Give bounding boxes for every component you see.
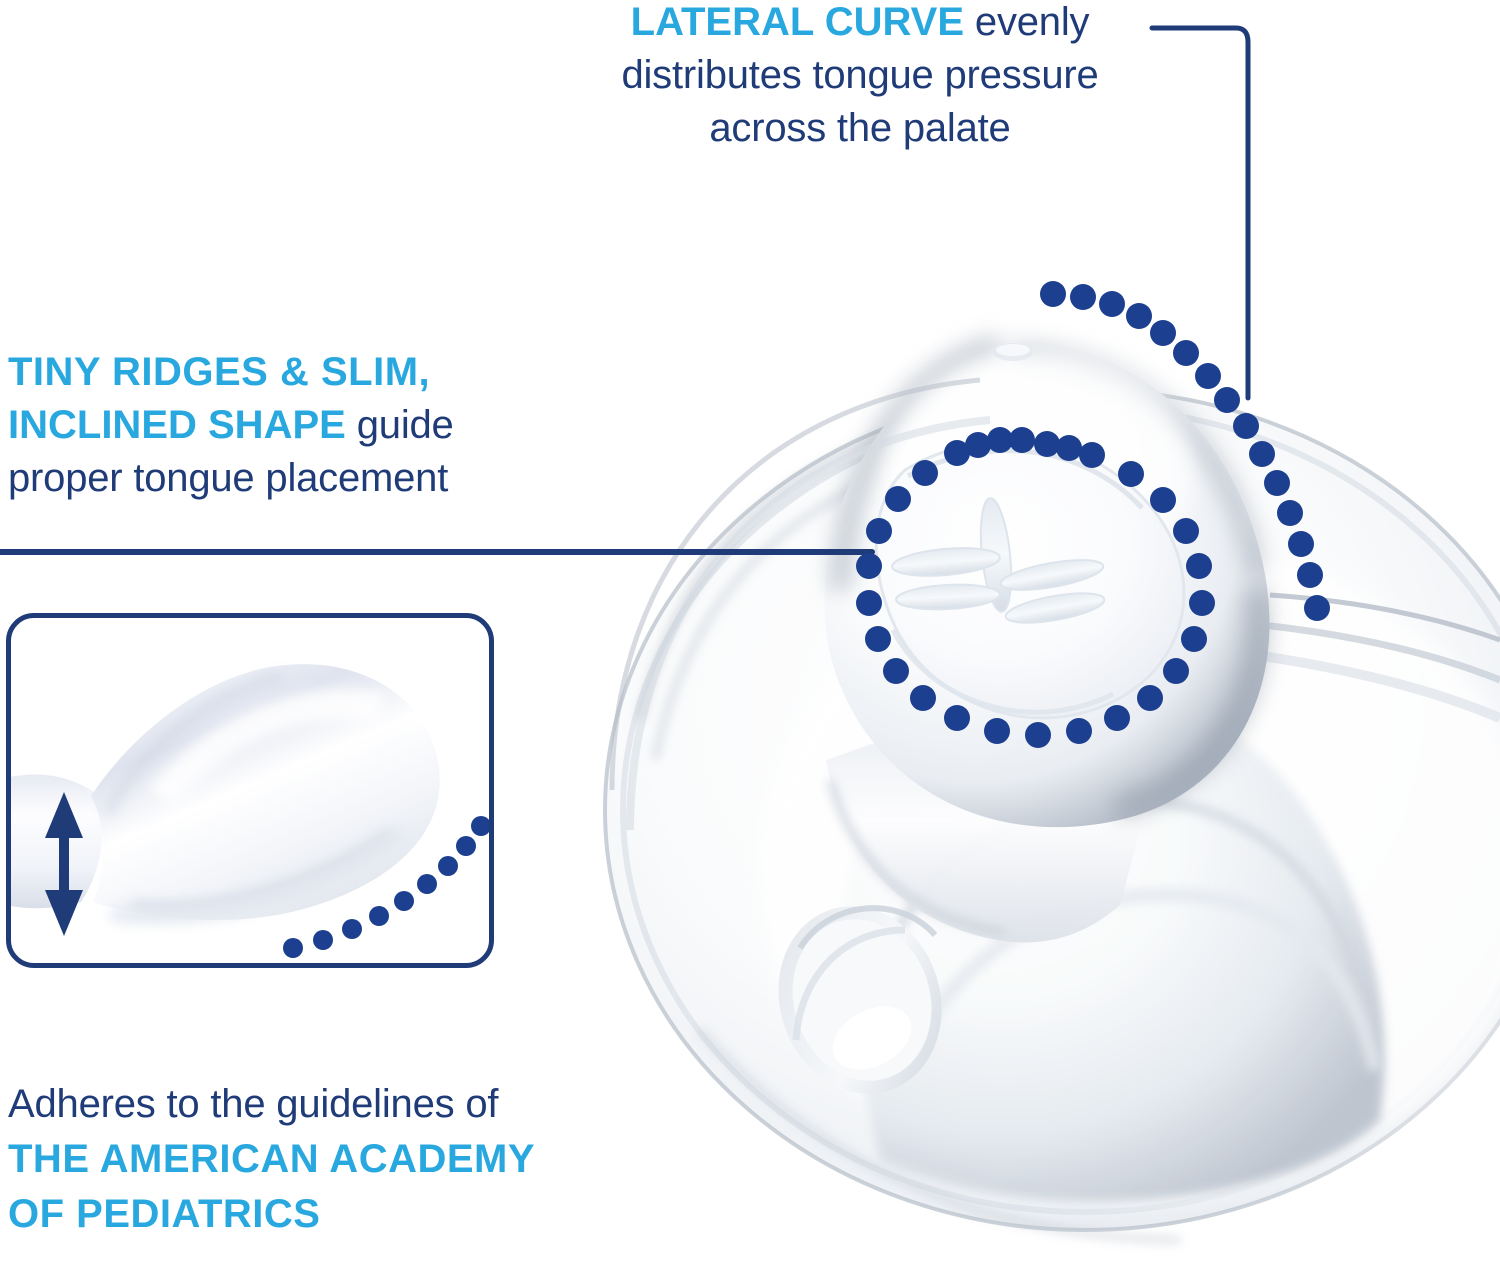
slim-inclined-shape-inset	[6, 613, 494, 968]
callout-tiny-ridges-line2-highlight: INCLINED SHAPE	[8, 403, 346, 447]
infographic-root: LATERAL CURVE evenly distributes tongue …	[0, 0, 1500, 1264]
inset-nipple-bulb	[91, 664, 440, 920]
callout-lateral-curve-line2: distributes tongue pressure	[621, 53, 1098, 97]
callout-lateral-curve-line3: across the palate	[709, 106, 1010, 150]
callout-aap-line1: Adheres to the guidelines of	[8, 1082, 498, 1126]
callout-aap-line2: THE AMERICAN ACADEMY	[8, 1132, 708, 1187]
callout-tiny-ridges-line2-rest: guide	[346, 403, 454, 447]
callout-aap: Adheres to the guidelines of THE AMERICA…	[8, 1077, 708, 1242]
callout-lateral-curve: LATERAL CURVE evenly distributes tongue …	[560, 0, 1160, 155]
callout-aap-line3: OF PEDIATRICS	[8, 1187, 708, 1242]
callout-tiny-ridges-line1: TINY RIDGES & SLIM,	[8, 346, 553, 399]
callout-tiny-ridges: TINY RIDGES & SLIM, INCLINED SHAPE guide…	[8, 346, 553, 505]
inset-nipple-neck	[11, 775, 102, 909]
tongue-placement-dotted-ring	[856, 427, 1215, 748]
callout-lateral-curve-highlight: LATERAL CURVE	[631, 0, 964, 44]
callout-tiny-ridges-line3: proper tongue placement	[8, 456, 448, 500]
callout-lateral-curve-rest-line1: evenly	[964, 0, 1089, 44]
